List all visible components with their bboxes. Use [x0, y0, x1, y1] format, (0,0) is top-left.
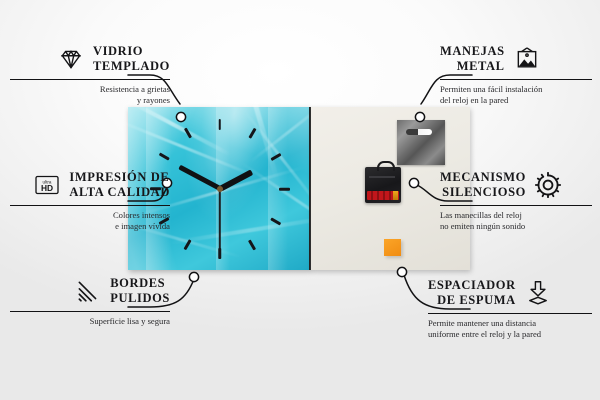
feature-divider	[428, 313, 592, 314]
battery-contact	[393, 191, 398, 200]
infographic-canvas: VIDRIO TEMPLADO Resistencia a grietas y …	[0, 0, 600, 400]
feature-divider	[10, 205, 170, 206]
hour-tick	[183, 127, 191, 138]
feature-header: MANEJAS METAL	[440, 44, 592, 74]
clock-mechanism	[365, 167, 401, 203]
gear-icon	[535, 172, 561, 198]
feature-mecanismo-silencioso: MECANISMO SILENCIOSO Las manecillas del …	[440, 170, 592, 233]
feature-description: Permiten una fácil instalación del reloj…	[440, 84, 592, 107]
callout-dot-bordes	[189, 272, 198, 281]
foam-spacer	[384, 239, 401, 256]
feature-impresion-alta-calidad: ultra HD IMPRESIÓN DE ALTA CALIDAD Color…	[10, 170, 170, 233]
feature-description: Resistencia a grietas y rayones	[10, 84, 170, 107]
feature-title: MECANISMO SILENCIOSO	[440, 170, 526, 200]
feature-header: VIDRIO TEMPLADO	[10, 44, 170, 74]
hour-tick	[270, 217, 281, 225]
diamond-icon	[58, 46, 84, 72]
feature-title: IMPRESIÓN DE ALTA CALIDAD	[69, 170, 170, 200]
hand-center-cap	[217, 186, 223, 192]
spacer-arrow-icon	[525, 280, 551, 306]
feature-description: Superficie lisa y segura	[10, 316, 170, 327]
second-hand	[219, 189, 221, 251]
feature-header: ESPACIADOR DE ESPUMA	[428, 278, 592, 308]
hour-tick	[279, 187, 290, 190]
minute-hand	[178, 165, 221, 191]
feature-description: Permite mantener una distancia uniforme …	[428, 318, 592, 341]
feature-divider	[440, 205, 592, 206]
svg-text:HD: HD	[41, 183, 53, 193]
feature-bordes-pulidos: BORDES PULIDOS Superficie lisa y segura	[10, 276, 170, 327]
feature-manejas-metal: MANEJAS METAL Permiten una fácil instala…	[440, 44, 592, 107]
feature-header: ultra HD IMPRESIÓN DE ALTA CALIDAD	[10, 170, 170, 200]
hour-hand	[218, 169, 252, 191]
feature-title: VIDRIO TEMPLADO	[93, 44, 170, 74]
feature-espaciador-de-espuma: ESPACIADOR DE ESPUMA Permite mantener un…	[428, 278, 592, 341]
hour-tick	[248, 127, 256, 138]
feature-header: BORDES PULIDOS	[10, 276, 170, 306]
feature-vidrio-templado: VIDRIO TEMPLADO Resistencia a grietas y …	[10, 44, 170, 107]
feature-title: BORDES PULIDOS	[110, 276, 170, 306]
hour-tick	[218, 248, 221, 259]
feature-divider	[10, 311, 170, 312]
hour-tick	[248, 239, 256, 250]
feature-divider	[440, 79, 592, 80]
ultra-hd-icon: ultra HD	[34, 172, 60, 198]
hour-tick	[183, 239, 191, 250]
hanger-slot	[406, 129, 432, 135]
picture-frame-icon	[514, 46, 540, 72]
metal-hanger	[397, 120, 445, 165]
hour-tick	[158, 152, 169, 160]
feature-title: MANEJAS METAL	[440, 44, 505, 74]
feature-header: MECANISMO SILENCIOSO	[440, 170, 592, 200]
feature-title: ESPACIADOR DE ESPUMA	[428, 278, 516, 308]
hour-tick	[218, 119, 221, 130]
feature-description: Las manecillas del reloj no emiten ningú…	[440, 210, 592, 233]
feature-description: Colores intensos e imagen vívida	[10, 210, 170, 233]
polished-edges-icon	[75, 278, 101, 304]
feature-divider	[10, 79, 170, 80]
mechanism-detail	[369, 176, 395, 178]
hour-tick	[270, 152, 281, 160]
mechanism-loop	[377, 161, 395, 171]
